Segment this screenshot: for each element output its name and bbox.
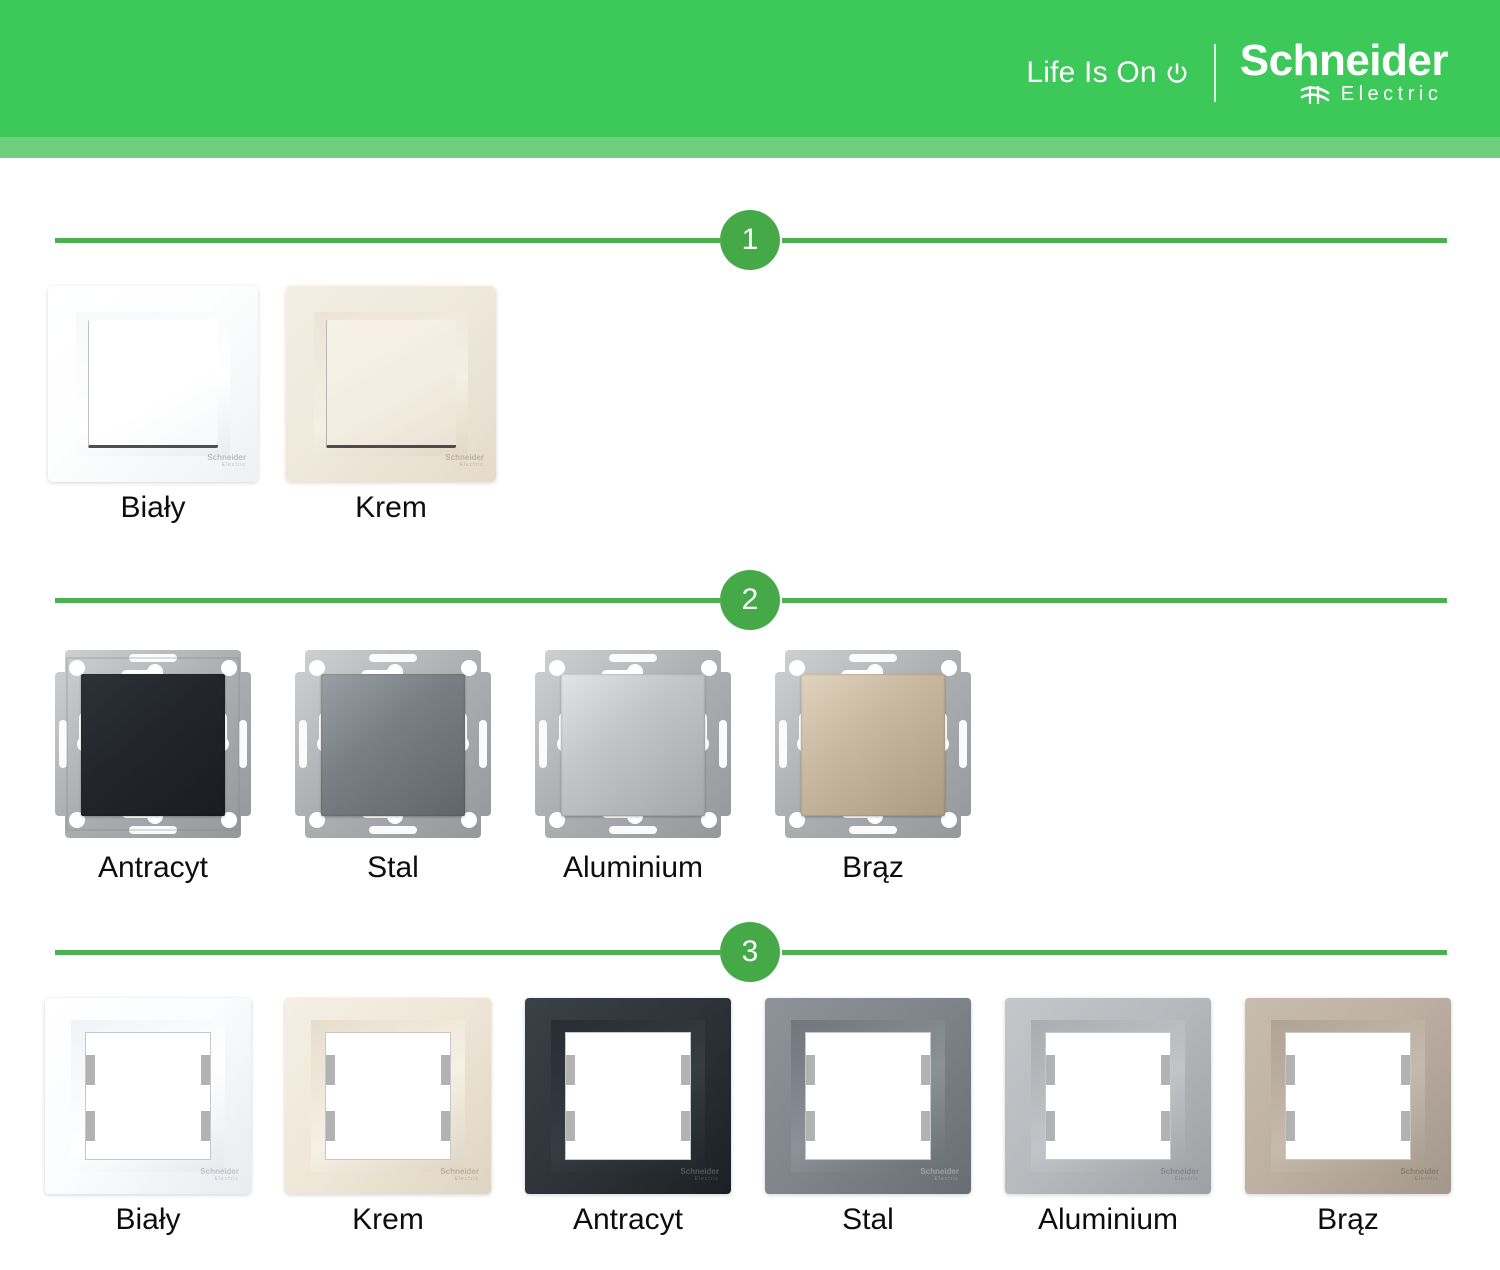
electric-row: Electric <box>1298 83 1443 106</box>
frame-image-stal: Schneider Electric <box>765 998 971 1194</box>
tagline-text: Life Is On <box>1026 56 1156 90</box>
brand-lockup: Life Is On Schneider <box>1026 44 1448 102</box>
frame-image-aluminium: Schneider Electric <box>1005 998 1211 1194</box>
product-schneider-logo: Schneider Electric <box>661 1168 719 1187</box>
frame-bialy[interactable]: Schneider Electric Biały <box>45 998 251 1194</box>
frame-clip-icon <box>566 1055 575 1085</box>
frame-clip-icon <box>806 1111 815 1141</box>
product-label: Stal <box>295 851 491 885</box>
frame-stal[interactable]: Schneider Electric Stal <box>765 998 971 1194</box>
product-schneider-logo: Schneider Electric <box>181 1168 239 1187</box>
section-divider-2: 2 <box>55 570 1447 630</box>
power-icon <box>1164 62 1190 88</box>
frame-clip-icon <box>921 1055 930 1085</box>
frame-aluminium[interactable]: Schneider Electric Aluminium <box>1005 998 1211 1194</box>
product-label: Antracyt <box>525 1203 731 1237</box>
electric-wordmark: Electric <box>1341 83 1443 106</box>
mechanism-rocker-key <box>561 674 705 816</box>
frame-clip-icon <box>326 1055 335 1085</box>
frame-clip-icon <box>441 1055 450 1085</box>
frame-aperture <box>85 1032 211 1160</box>
section-badge-2: 2 <box>720 570 780 630</box>
switch-image-krem: Schneider Electric <box>286 286 496 482</box>
product-schneider-logo: Schneider Electric <box>1381 1168 1439 1187</box>
product-schneider-logo: Schneider Electric <box>901 1168 959 1187</box>
mechanism-braz[interactable]: Brąz <box>775 646 971 842</box>
product-schneider-logo: Schneider Electric <box>1141 1168 1199 1187</box>
section-badge-3: 3 <box>720 922 780 982</box>
frame-aperture <box>565 1032 691 1160</box>
mechanism-stal[interactable]: Stal <box>295 646 491 842</box>
frame-clip-icon <box>681 1055 690 1085</box>
mechanism-image-braz <box>775 646 971 842</box>
product-bialy-switch[interactable]: Schneider Electric Biały <box>48 286 258 482</box>
frame-aperture <box>1045 1032 1171 1160</box>
frame-braz[interactable]: Schneider Electric Brąz <box>1245 998 1451 1194</box>
frame-clip-icon <box>86 1055 95 1085</box>
frame-clip-icon <box>201 1055 210 1085</box>
mechanism-aluminium[interactable]: Aluminium <box>535 646 731 842</box>
frame-image-krem: Schneider Electric <box>285 998 491 1194</box>
schneider-mark-icon <box>1298 86 1332 104</box>
product-label: Antracyt <box>55 851 251 885</box>
mechanism-image-antracyt <box>55 646 251 842</box>
section-badge-1: 1 <box>720 210 780 270</box>
section-3-products: Schneider Electric Biały Schneider Elect… <box>0 998 1500 1248</box>
mechanism-image-stal <box>295 646 491 842</box>
frame-antracyt[interactable]: Schneider Electric Antracyt <box>525 998 731 1194</box>
frame-clip-icon <box>1161 1111 1170 1141</box>
product-label: Krem <box>285 1203 491 1237</box>
brand-divider <box>1214 44 1216 102</box>
frame-clip-icon <box>201 1111 210 1141</box>
product-schneider-logo: Schneider Electric <box>421 1168 479 1187</box>
mechanism-antracyt[interactable]: Antracyt <box>55 646 251 842</box>
product-sheet: Life Is On Schneider <box>0 0 1500 1270</box>
frame-aperture <box>805 1032 931 1160</box>
product-krem-switch[interactable]: Schneider Electric Krem <box>286 286 496 482</box>
schneider-wordmark: Schneider <box>1240 40 1448 82</box>
mechanism-rocker-key <box>801 674 945 816</box>
frame-clip-icon <box>326 1111 335 1141</box>
frame-clip-icon <box>921 1111 930 1141</box>
switch-rocker <box>326 320 456 448</box>
frame-clip-icon <box>1401 1055 1410 1085</box>
schneider-logo: Schneider Electric <box>1240 40 1448 106</box>
frame-aperture <box>325 1032 451 1160</box>
product-label: Aluminium <box>1005 1203 1211 1237</box>
frame-image-braz: Schneider Electric <box>1245 998 1451 1194</box>
product-schneider-logo: Schneider Electric <box>186 454 246 474</box>
frame-image-bialy: Schneider Electric <box>45 998 251 1194</box>
switch-rocker <box>88 320 218 448</box>
product-label: Brąz <box>775 851 971 885</box>
product-label: Stal <box>765 1203 971 1237</box>
product-label: Biały <box>45 1203 251 1237</box>
life-is-on-tagline: Life Is On <box>1026 56 1189 90</box>
mechanism-rocker-key <box>81 674 225 816</box>
section-divider-3: 3 <box>55 922 1447 982</box>
frame-clip-icon <box>1046 1111 1055 1141</box>
frame-clip-icon <box>681 1111 690 1141</box>
frame-clip-icon <box>1161 1055 1170 1085</box>
product-schneider-logo: Schneider Electric <box>424 454 484 474</box>
mechanism-image-aluminium <box>535 646 731 842</box>
mechanism-rocker-key <box>321 674 465 816</box>
frame-clip-icon <box>1401 1111 1410 1141</box>
frame-clip-icon <box>441 1111 450 1141</box>
frame-clip-icon <box>1286 1111 1295 1141</box>
frame-clip-icon <box>566 1111 575 1141</box>
product-label: Aluminium <box>535 851 731 885</box>
frame-clip-icon <box>1046 1055 1055 1085</box>
frame-aperture <box>1285 1032 1411 1160</box>
frame-clip-icon <box>1286 1055 1295 1085</box>
frame-image-antracyt: Schneider Electric <box>525 998 731 1194</box>
brand-header-accent-strip <box>0 137 1500 158</box>
frame-clip-icon <box>86 1111 95 1141</box>
frame-krem[interactable]: Schneider Electric Krem <box>285 998 491 1194</box>
section-2-products: Antracyt <box>0 646 1500 896</box>
section-divider-1: 1 <box>55 210 1447 270</box>
switch-image-bialy: Schneider Electric <box>48 286 258 482</box>
frame-clip-icon <box>806 1055 815 1085</box>
product-label: Brąz <box>1245 1203 1451 1237</box>
product-label: Krem <box>286 491 496 525</box>
product-label: Biały <box>48 491 258 525</box>
section-1-products: Schneider Electric Biały Schneider Elect… <box>0 286 1500 536</box>
